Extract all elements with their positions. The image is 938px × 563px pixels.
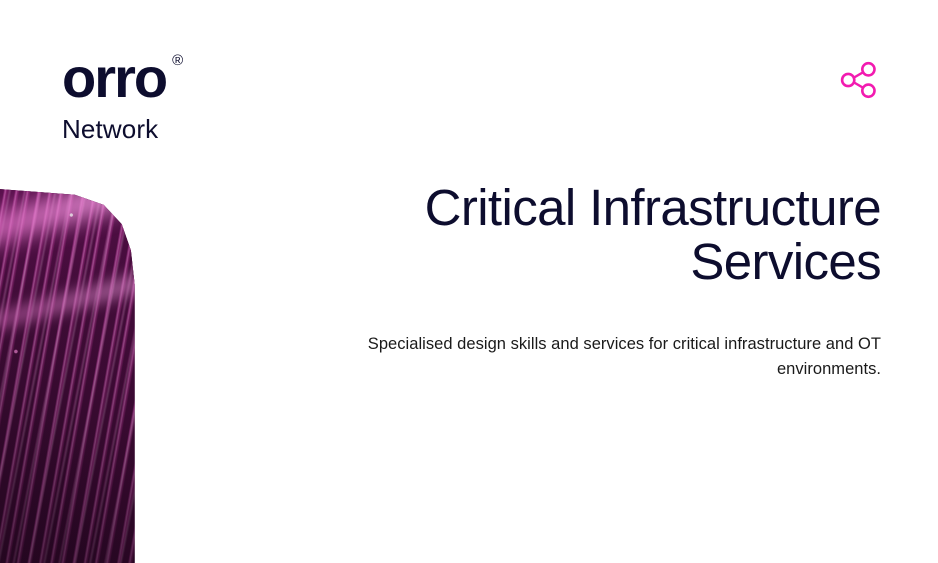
page-title-line-1: Critical Infrastructure <box>425 179 881 236</box>
share-icon <box>836 58 880 102</box>
hero-copy: Critical Infrastructure Services Special… <box>361 181 881 382</box>
registered-trademark-icon: ® <box>172 53 183 68</box>
page-title: Critical Infrastructure Services <box>361 181 881 289</box>
brand-logo[interactable]: orro ® Network <box>62 52 166 142</box>
page-subtitle: Specialised design skills and services f… <box>361 289 881 382</box>
site-header: orro ® Network <box>0 0 938 170</box>
share-button[interactable] <box>830 52 886 108</box>
brand-sub-label: Network <box>62 116 166 142</box>
brand-wordmark: orro <box>62 52 166 104</box>
hero-page: orro ® Network Critical Infrastructure S… <box>0 0 938 563</box>
page-title-line-2: Services <box>690 233 881 290</box>
